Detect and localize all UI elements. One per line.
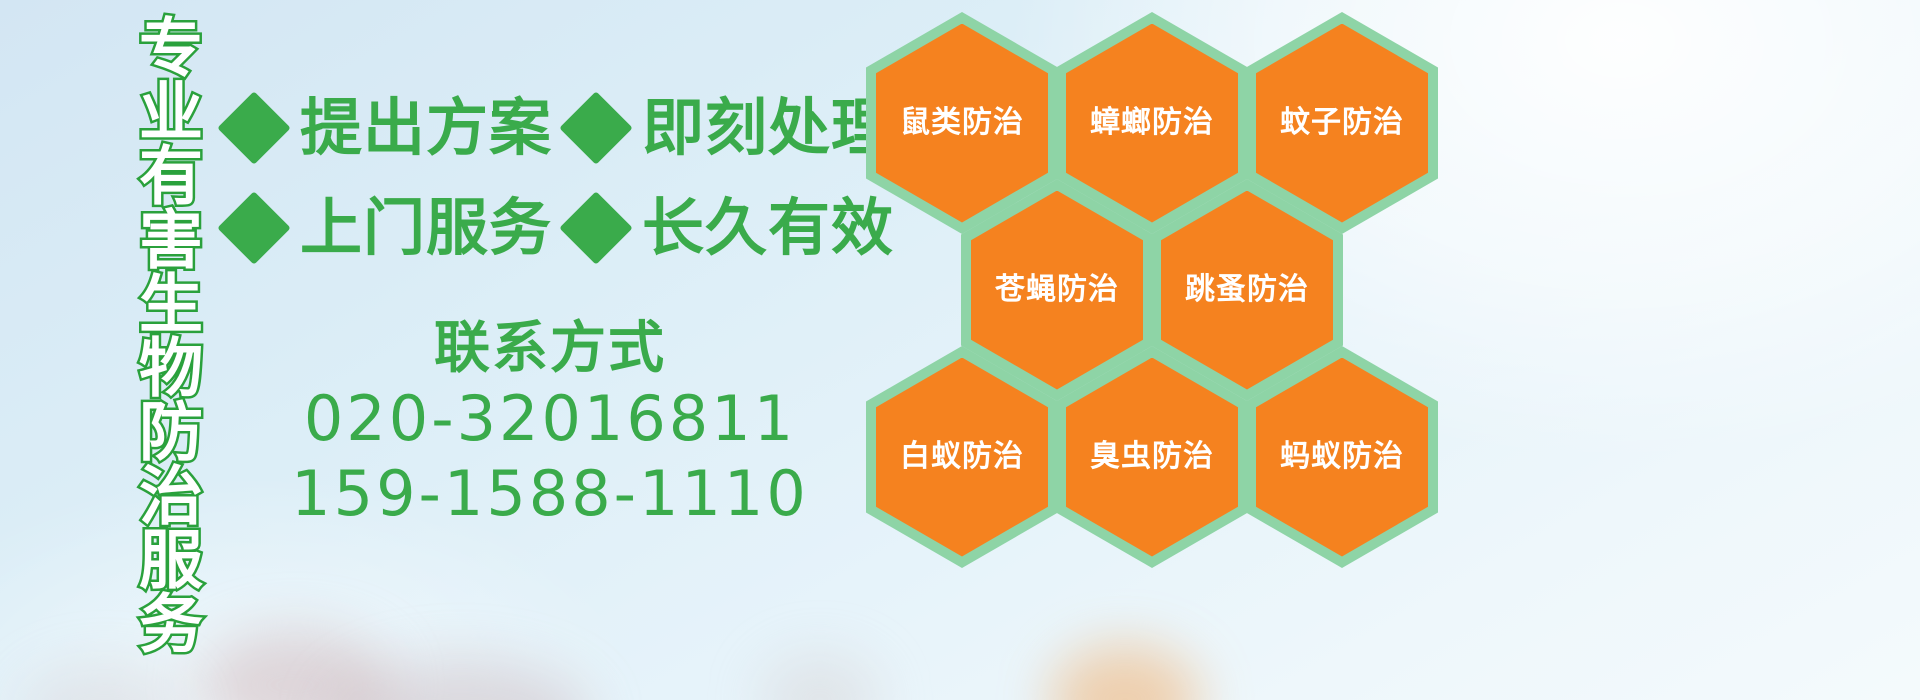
feature-label: 提出方案 bbox=[300, 97, 552, 159]
service-label: 跳蚤防治 bbox=[1185, 275, 1309, 305]
hex-inner: 白蚁防治 bbox=[876, 358, 1048, 557]
promotional-banner: 专业有害生物防治服务 提出方案 即刻处理 上门服务 长久有效 联系方式 bbox=[0, 0, 1920, 700]
diamond-icon bbox=[217, 191, 291, 265]
service-label: 蟑螂防治 bbox=[1090, 108, 1214, 138]
hex-inner: 蚊子防治 bbox=[1256, 24, 1428, 223]
background-blur-blob bbox=[200, 630, 390, 700]
vertical-headline: 专业有害生物防治服务 bbox=[104, 14, 196, 554]
hex-inner: 臭虫防治 bbox=[1066, 358, 1238, 557]
feature-row: 提出方案 即刻处理 bbox=[228, 78, 868, 178]
hex-inner: 苍蝇防治 bbox=[971, 191, 1143, 390]
phone-number-landline[interactable]: 020-32016811 bbox=[240, 381, 860, 457]
feature-item-immediate-handling: 即刻处理 bbox=[570, 97, 894, 159]
diamond-icon bbox=[217, 91, 291, 165]
service-honeycomb: 鼠类防治 蟑螂防治 蚊子防治 苍蝇防治 跳蚤防治 白蚁防治 bbox=[862, 0, 1462, 560]
service-label: 蚂蚁防治 bbox=[1280, 442, 1404, 472]
background-blur-blob bbox=[330, 660, 590, 700]
background-blur-blob bbox=[20, 665, 190, 700]
diamond-icon bbox=[559, 191, 633, 265]
hex-inner: 跳蚤防治 bbox=[1161, 191, 1333, 390]
service-label: 苍蝇防治 bbox=[995, 275, 1119, 305]
feature-label: 长久有效 bbox=[642, 197, 894, 259]
background-blur-blob bbox=[1050, 645, 1200, 700]
phone-number-mobile[interactable]: 159-1588-1110 bbox=[240, 456, 860, 532]
hex-inner: 蟑螂防治 bbox=[1066, 24, 1238, 223]
service-label: 白蚁防治 bbox=[900, 442, 1024, 472]
feature-label: 上门服务 bbox=[300, 197, 552, 259]
contact-block: 联系方式 020-32016811 159-1588-1110 bbox=[240, 318, 860, 532]
contact-heading: 联系方式 bbox=[240, 318, 860, 381]
feature-item-propose-plan: 提出方案 bbox=[228, 97, 552, 159]
service-label: 臭虫防治 bbox=[1090, 442, 1214, 472]
feature-item-onsite-service: 上门服务 bbox=[228, 197, 552, 259]
feature-item-long-lasting: 长久有效 bbox=[570, 197, 894, 259]
diamond-icon bbox=[559, 91, 633, 165]
service-label: 鼠类防治 bbox=[900, 108, 1024, 138]
service-label: 蚊子防治 bbox=[1280, 108, 1404, 138]
feature-row: 上门服务 长久有效 bbox=[228, 178, 868, 278]
hex-inner: 鼠类防治 bbox=[876, 24, 1048, 223]
feature-list: 提出方案 即刻处理 上门服务 长久有效 bbox=[228, 78, 868, 278]
hex-inner: 蚂蚁防治 bbox=[1256, 358, 1428, 557]
feature-label: 即刻处理 bbox=[642, 97, 894, 159]
background-blur-blob bbox=[760, 655, 880, 700]
